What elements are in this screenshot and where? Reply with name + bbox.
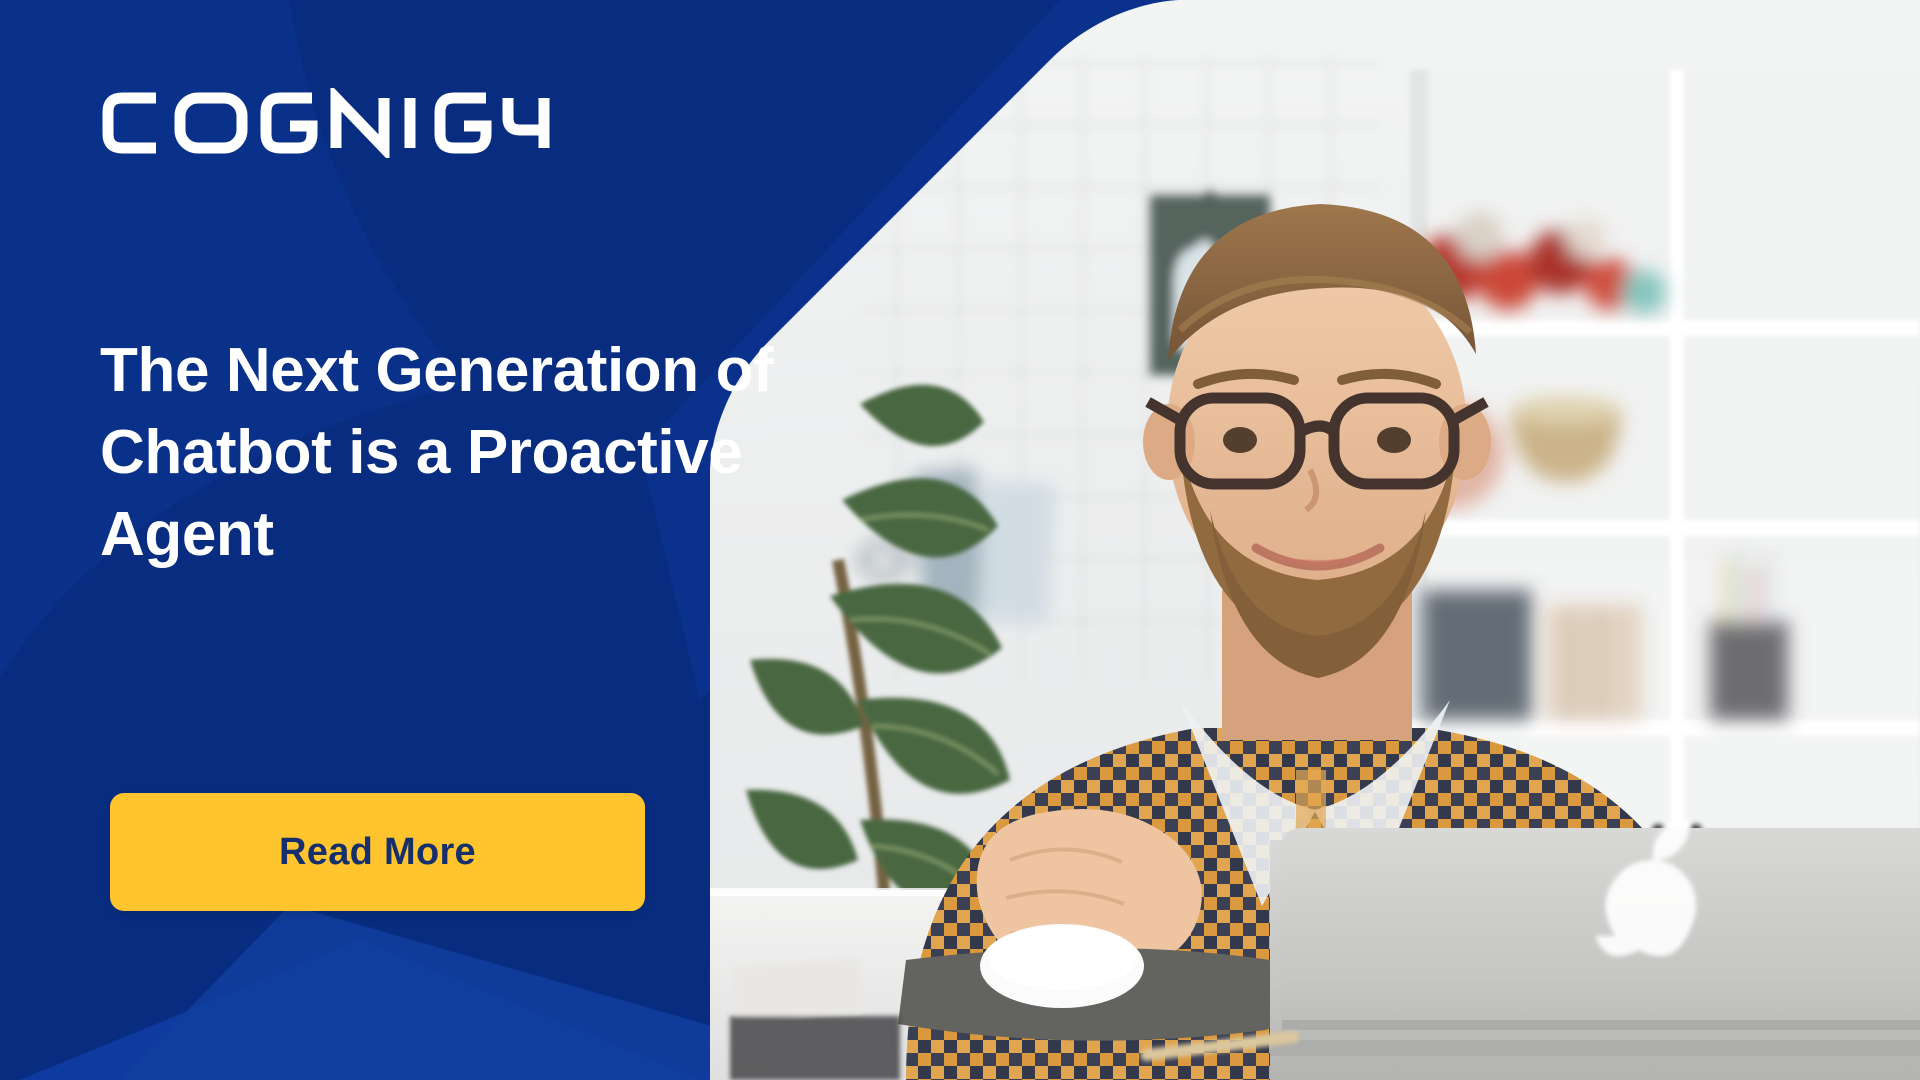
- content-column: The Next Generation of Chatbot is a Proa…: [0, 0, 860, 1080]
- cognigy-logo-mark: [100, 88, 560, 158]
- promo-banner: The Next Generation of Chatbot is a Proa…: [0, 0, 1920, 1080]
- page-title: The Next Generation of Chatbot is a Proa…: [100, 330, 800, 575]
- cognigy-logo[interactable]: [100, 88, 560, 158]
- headline-line-2: Chatbot is a Proactive: [100, 418, 742, 487]
- headline-line-1: The Next Generation of: [100, 336, 773, 405]
- read-more-button[interactable]: Read More: [110, 793, 645, 911]
- headline-line-3: Agent: [100, 500, 274, 569]
